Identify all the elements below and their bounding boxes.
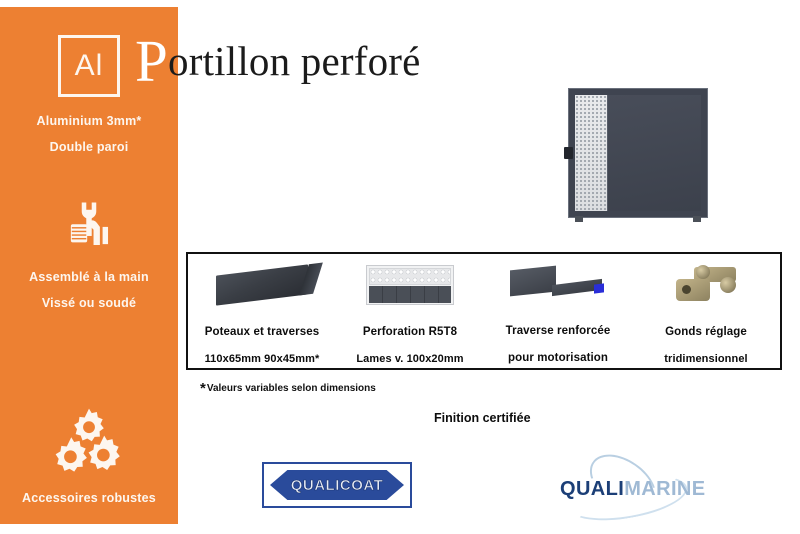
sidebar-item-sublabel: Vissé ou soudé — [0, 294, 178, 313]
gate-frame — [568, 88, 708, 218]
gate-foot-left — [575, 216, 583, 222]
gate-handle-icon — [564, 147, 573, 159]
features-panel: Poteaux et traverses 110x65mm 90x45mm* P… — [186, 252, 782, 370]
feature-subtitle: 110x65mm 90x45mm* — [205, 351, 320, 368]
aluminium-badge-icon: Al — [58, 35, 120, 97]
feature-card-posts: Poteaux et traverses 110x65mm 90x45mm* — [188, 254, 336, 368]
crown-icon — [329, 465, 345, 472]
footnote-text: Valeurs variables selon dimensions — [207, 383, 376, 394]
motorisation-beam-icon — [484, 260, 632, 309]
qualicoat-logo-text: QUALICOAT — [291, 477, 384, 494]
sidebar-item-label: Aluminium 3mm* — [0, 112, 178, 131]
qualicoat-logo: QUALICOAT — [262, 462, 412, 508]
page-title-rest: ortillon perforé — [168, 38, 421, 84]
sidebar-item-assembly: Assemblé à la main Vissé ou soudé — [0, 192, 178, 314]
gate-foot-right — [693, 216, 701, 222]
feature-title: Perforation R5T8 — [363, 324, 457, 342]
gears-icon — [0, 405, 178, 473]
feature-card-motorisation: Traverse renforcée pour motorisation — [484, 254, 632, 368]
feature-card-perforation: Perforation R5T8 Lames v. 100x20mm — [336, 254, 484, 368]
feature-title: Gonds réglage — [665, 324, 747, 342]
aluminium-badge-label: Al — [75, 51, 104, 81]
gate-perforated-panel — [575, 95, 608, 211]
gate-inner — [575, 95, 701, 211]
footnote: *Valeurs variables selon dimensions — [200, 380, 376, 397]
certification-heading: Finition certifiée — [434, 411, 531, 425]
qualimarine-logo: QUALIMARINE — [556, 466, 716, 510]
sidebar-item-label: Accessoires robustes — [0, 489, 178, 508]
sidebar-item-sublabel: Double paroi — [0, 138, 178, 157]
feature-subtitle: tridimensionnel — [664, 351, 747, 368]
feature-title: Poteaux et traverses — [205, 324, 320, 342]
qualicoat-diamond: QUALICOAT — [270, 468, 404, 502]
qualimarine-logo-text: QUALIMARINE — [560, 478, 706, 501]
sidebar-item-accessories: Accessoires robustes — [0, 405, 178, 508]
footnote-star: * — [200, 380, 206, 397]
adjustable-hinge-icon — [632, 260, 780, 310]
hand-wrench-icon — [0, 192, 178, 260]
page-title-cap: P — [135, 28, 168, 94]
qualimarine-text-part2: MARINE — [624, 478, 705, 500]
product-photo — [568, 88, 708, 218]
aluminium-profile-icon — [188, 260, 336, 310]
feature-subtitle: pour motorisation — [508, 350, 608, 368]
gate-solid-panel — [608, 95, 701, 211]
sidebar-item-label: Assemblé à la main — [0, 268, 178, 287]
feature-title: Traverse renforcée — [506, 323, 611, 341]
qualimarine-text-part1: QUALI — [560, 478, 624, 500]
product-sheet: Al Aluminium 3mm* Double paroi — [0, 0, 800, 534]
feature-subtitle: Lames v. 100x20mm — [356, 351, 463, 368]
page-title: Portillon perforé — [135, 21, 421, 90]
feature-card-hinges: Gonds réglage tridimensionnel — [632, 254, 780, 368]
perforated-panel-icon — [336, 260, 484, 310]
